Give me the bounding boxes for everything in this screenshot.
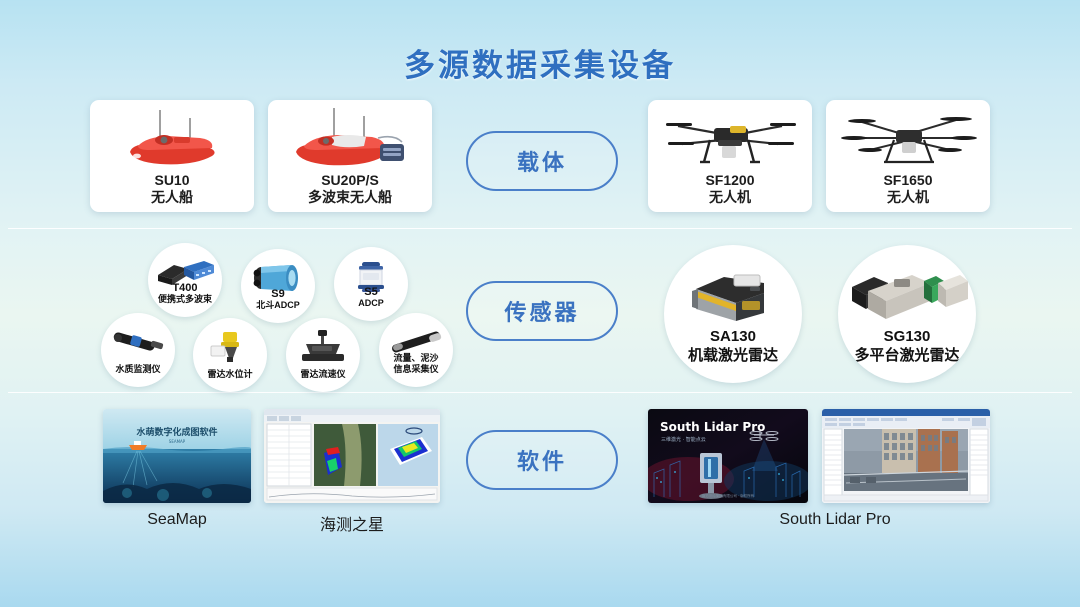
- carrier-card-sf1200[interactable]: SF1200 无人机: [648, 100, 812, 212]
- sensor-type: 雷达水位计: [207, 369, 252, 380]
- carrier-model: SF1200: [705, 172, 754, 189]
- band-pill-sensor-label: 传感器: [504, 295, 579, 327]
- software-thumb-pointcloud[interactable]: [822, 409, 990, 503]
- lidar-airborne-icon: [664, 269, 802, 331]
- usv-red-icon: [90, 104, 254, 174]
- radar-level-gauge-icon: [193, 330, 267, 364]
- sensor-model: S5: [358, 287, 384, 298]
- sensor-circle-sa130[interactable]: SA130 机载激光雷达: [664, 245, 802, 383]
- water-quality-probe-icon: [101, 325, 175, 359]
- sensor-circle-s5[interactable]: S5 ADCP: [334, 247, 408, 321]
- svg-text:South Lidar Pro: South Lidar Pro: [660, 420, 765, 434]
- sensor-type: 雷达流速仪: [300, 369, 345, 380]
- southlidar-splash-art: South Lidar Pro 三维激光 · 智能点云 南方测绘集团有限公司 ·…: [648, 409, 808, 503]
- sensor-model: T400: [158, 283, 212, 294]
- sensor-caption: T400 便携式多波束: [158, 283, 212, 317]
- software-label-seamap: SeaMap: [103, 511, 251, 529]
- svg-text:三维激光 · 智能点云: 三维激光 · 智能点云: [661, 436, 706, 443]
- drone-quad-icon: [648, 104, 812, 174]
- carrier-model: SU10: [151, 172, 193, 189]
- sensor-caption: SA130 机载激光雷达: [688, 327, 778, 383]
- band-divider-1: [8, 228, 1072, 229]
- sensor-circle-s9[interactable]: S9 北斗ADCP: [241, 249, 315, 323]
- carrier-type: 多波束无人船: [308, 189, 392, 206]
- usv-red-multibeam-icon: [268, 104, 432, 174]
- svg-text:水萌数字化成图软件: 水萌数字化成图软件: [136, 426, 217, 438]
- band-pill-carrier[interactable]: 载体: [466, 131, 618, 191]
- sensor-caption: 流量、泥沙 信息采集仪: [393, 353, 438, 387]
- drone-hexa-icon: [826, 104, 990, 174]
- sensor-circle-radar-velocity[interactable]: 雷达流速仪: [286, 318, 360, 392]
- carrier-type: 无人机: [883, 189, 932, 206]
- sensor-circle-t400[interactable]: T400 便携式多波束: [148, 243, 222, 317]
- carrier-card-su20ps[interactable]: SU20P/S 多波束无人船: [268, 100, 432, 212]
- sensor-type: 北斗ADCP: [256, 300, 300, 311]
- sensor-model: S9: [256, 289, 300, 300]
- software-thumb-hydrostar[interactable]: [264, 409, 440, 503]
- band-pill-carrier-label: 载体: [517, 145, 567, 177]
- lidar-multiplatform-icon: [838, 269, 976, 331]
- sensor-type-line1: 流量、泥沙: [393, 353, 438, 364]
- band-pill-software-label: 软件: [517, 444, 567, 476]
- sensor-circle-radar-level[interactable]: 雷达水位计: [193, 318, 267, 392]
- page-title: 多源数据采集设备: [0, 40, 1080, 85]
- carrier-card-caption: SF1200 无人机: [705, 172, 754, 206]
- software-thumb-seamap[interactable]: 水萌数字化成图软件 SEAMAP: [103, 409, 251, 503]
- band-divider-2: [8, 392, 1072, 393]
- sensor-type: 便携式多波束: [158, 294, 212, 305]
- sensor-type: 机载激光雷达: [688, 346, 778, 365]
- sensor-caption: 水质监测仪: [115, 364, 160, 388]
- software-label-southlidarpro: South Lidar Pro: [730, 511, 940, 529]
- sensor-model: SG130: [854, 327, 959, 346]
- carrier-card-su10[interactable]: SU10 无人船: [90, 100, 254, 212]
- software-thumb-southlidar-splash[interactable]: South Lidar Pro 三维激光 · 智能点云 南方测绘集团有限公司 ·…: [648, 409, 808, 503]
- sensor-type-line2: 信息采集仪: [393, 364, 438, 375]
- sensor-caption: 雷达流速仪: [300, 369, 345, 393]
- sensor-type: 水质监测仪: [115, 364, 160, 375]
- carrier-card-caption: SU10 无人船: [151, 172, 193, 206]
- pointcloud-app-art: [822, 409, 990, 503]
- slide-root: 多源数据采集设备 载体 传感器 软件 SU10 无人船: [0, 0, 1080, 607]
- sensor-type: ADCP: [358, 298, 384, 309]
- band-pill-sensor[interactable]: 传感器: [466, 281, 618, 341]
- svg-text:SEAMAP: SEAMAP: [169, 439, 186, 444]
- sensor-caption: SG130 多平台激光雷达: [854, 327, 959, 383]
- carrier-card-caption: SU20P/S 多波束无人船: [308, 172, 392, 206]
- software-label-hydrostar: 海测之星: [264, 511, 440, 535]
- sensor-circle-water-quality[interactable]: 水质监测仪: [101, 313, 175, 387]
- sensor-caption: S9 北斗ADCP: [256, 289, 300, 323]
- radar-velocity-meter-icon: [286, 330, 360, 364]
- carrier-card-caption: SF1650 无人机: [883, 172, 932, 206]
- sensor-circle-sg130[interactable]: SG130 多平台激光雷达: [838, 245, 976, 383]
- carrier-model: SU20P/S: [308, 172, 392, 189]
- svg-text:南方测绘集团有限公司 · 版权所有: 南方测绘集团有限公司 · 版权所有: [702, 493, 755, 498]
- sensor-type: 多平台激光雷达: [854, 346, 959, 365]
- carrier-model: SF1650: [883, 172, 932, 189]
- sensor-circle-flow-sediment[interactable]: 流量、泥沙 信息采集仪: [379, 313, 453, 387]
- carrier-type: 无人船: [151, 189, 193, 206]
- band-pill-software[interactable]: 软件: [466, 430, 618, 490]
- sensor-caption: 雷达水位计: [207, 369, 252, 393]
- hydro-star-app-art: [264, 409, 440, 503]
- sensor-caption: S5 ADCP: [358, 287, 384, 321]
- carrier-type: 无人机: [705, 189, 754, 206]
- seamap-splash-art: 水萌数字化成图软件 SEAMAP: [103, 409, 251, 503]
- sensor-model: SA130: [688, 327, 778, 346]
- carrier-card-sf1650[interactable]: SF1650 无人机: [826, 100, 990, 212]
